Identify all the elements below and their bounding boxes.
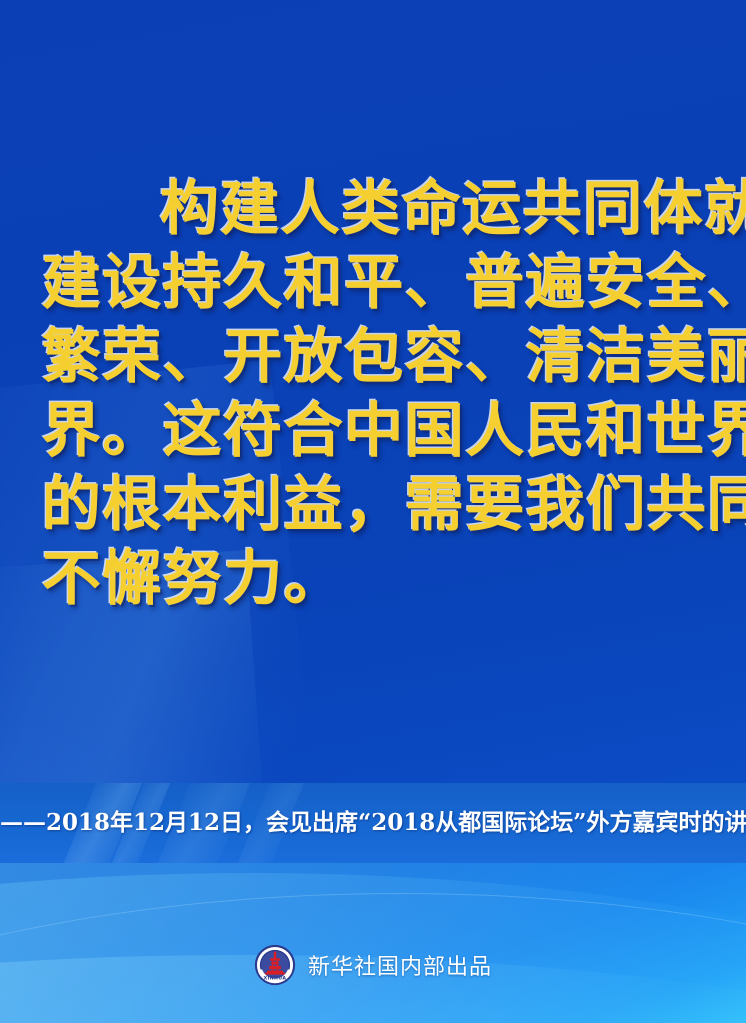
footer-agency-label: 新华社国内部出品: [308, 949, 492, 981]
quote-attribution: ——2018年12月12日，会见出席“2018从都国际论坛”外方嘉宾时的讲话: [0, 807, 746, 839]
quote-line-5: 的根本利益，需要我们共同作出: [42, 468, 710, 542]
quote-line-1: 构建人类命运共同体就是要: [42, 172, 710, 246]
quote-line-3: 繁荣、开放包容、清洁美丽的世: [42, 320, 710, 394]
footer: XINHUA 新华社国内部出品: [0, 944, 746, 986]
bottom-decoration: [0, 863, 746, 1023]
xinhua-emblem-icon: XINHUA: [254, 944, 296, 986]
svg-text:XINHUA: XINHUA: [264, 975, 287, 981]
quote-line-4: 界。这符合中国人民和世界人民: [42, 394, 710, 468]
quote-line-6: 不懈努力。: [42, 542, 710, 616]
poster-canvas: 构建人类命运共同体就是要 建设持久和平、普遍安全、共同 繁荣、开放包容、清洁美丽…: [0, 0, 746, 1023]
quote-line-2: 建设持久和平、普遍安全、共同: [42, 246, 710, 320]
quote-block: 构建人类命运共同体就是要 建设持久和平、普遍安全、共同 繁荣、开放包容、清洁美丽…: [42, 172, 710, 616]
